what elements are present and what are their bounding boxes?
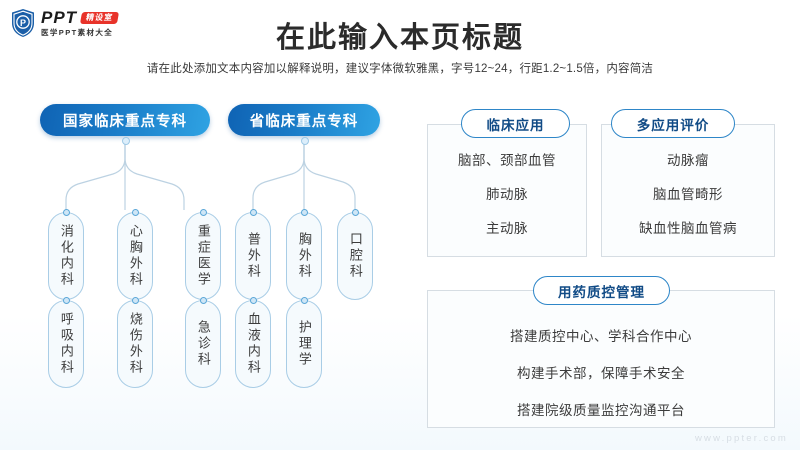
panel-item-list: 搭建质控中心、学科合作中心 构建手术部，保障手术安全 搭建院级质量监控沟通平台 [428, 325, 774, 419]
tree-node[interactable]: 消化内科 [48, 212, 84, 300]
site-watermark: www.ppter.com [695, 433, 788, 444]
panel-item: 搭建院级质量监控沟通平台 [517, 399, 685, 419]
tree-node-label: 口腔科 [348, 232, 362, 280]
panel-item: 脑血管畸形 [653, 183, 723, 203]
tree-node-dot [301, 297, 308, 304]
tree-node[interactable]: 血液内科 [235, 300, 271, 388]
panel-item-list: 脑部、颈部血管 肺动脉 主动脉 [428, 149, 586, 237]
tree-node-label: 心胸外科 [128, 224, 142, 288]
tree-node-label: 急诊科 [196, 320, 210, 368]
tree-node-dot [352, 209, 359, 216]
panel-drug-quality-control: 搭建质控中心、学科合作中心 构建手术部，保障手术安全 搭建院级质量监控沟通平台 [427, 290, 775, 428]
org-tree: 国家临床重点专科 省临床重点专科 消化内科 呼吸内科 心胸外科 烧伤外科 重症医… [0, 96, 410, 426]
tree-node-dot [250, 297, 257, 304]
tree-node[interactable]: 普外科 [235, 212, 271, 300]
tree-node-dot [132, 297, 139, 304]
tree-node[interactable]: 重症医学 [185, 212, 221, 300]
tree-node-label: 烧伤外科 [128, 312, 142, 376]
tree-node-label: 重症医学 [196, 224, 210, 288]
panel-clinical-application: 脑部、颈部血管 肺动脉 主动脉 [427, 124, 587, 257]
panel-tag-clinical-application[interactable]: 临床应用 [461, 109, 570, 138]
panel-item: 脑部、颈部血管 [458, 149, 556, 169]
tree-root-provincial[interactable]: 省临床重点专科 [228, 104, 380, 136]
tree-node-dot [132, 209, 139, 216]
panel-item: 构建手术部，保障手术安全 [517, 362, 685, 382]
tree-root-national[interactable]: 国家临床重点专科 [40, 104, 210, 136]
panel-item: 搭建质控中心、学科合作中心 [510, 325, 692, 345]
tree-node-label: 血液内科 [246, 312, 260, 376]
tree-root-dot-provincial [301, 137, 309, 145]
panel-item-list: 动脉瘤 脑血管畸形 缺血性脑血管病 [602, 149, 774, 237]
tree-node[interactable]: 呼吸内科 [48, 300, 84, 388]
tree-node[interactable]: 心胸外科 [117, 212, 153, 300]
tree-node-dot [200, 297, 207, 304]
page-title: 在此输入本页标题 [0, 14, 800, 56]
panel-item: 缺血性脑血管病 [639, 217, 737, 237]
tree-node[interactable]: 护理学 [286, 300, 322, 388]
page-subtitle: 请在此处添加文本内容加以解释说明，建议字体微软雅黑，字号12~24，行距1.2~… [0, 60, 800, 76]
slide-canvas: P PPT 精设室 医学PPT素材大全 在此输入本页标题 请在此处添加文本内容加… [0, 0, 800, 450]
tree-node-dot [250, 209, 257, 216]
tree-root-dot-national [122, 137, 130, 145]
panel-item: 肺动脉 [486, 183, 528, 203]
panel-multi-application-evaluation: 动脉瘤 脑血管畸形 缺血性脑血管病 [601, 124, 775, 257]
tree-node[interactable]: 胸外科 [286, 212, 322, 300]
tree-node-dot [63, 209, 70, 216]
tree-node-dot [301, 209, 308, 216]
tree-node[interactable]: 烧伤外科 [117, 300, 153, 388]
tree-node-dot [63, 297, 70, 304]
tree-node-label: 护理学 [297, 320, 311, 368]
tree-node-label: 消化内科 [59, 224, 73, 288]
tree-node-label: 胸外科 [297, 232, 311, 280]
tree-node[interactable]: 口腔科 [337, 212, 373, 300]
panel-tag-drug-quality-control[interactable]: 用药质控管理 [533, 276, 670, 305]
tree-node-dot [200, 209, 207, 216]
tree-node-label: 普外科 [246, 232, 260, 280]
tree-node[interactable]: 急诊科 [185, 300, 221, 388]
panel-item: 主动脉 [486, 217, 528, 237]
tree-node-label: 呼吸内科 [59, 312, 73, 376]
panel-item: 动脉瘤 [667, 149, 709, 169]
panel-tag-multi-application-evaluation[interactable]: 多应用评价 [611, 109, 735, 138]
